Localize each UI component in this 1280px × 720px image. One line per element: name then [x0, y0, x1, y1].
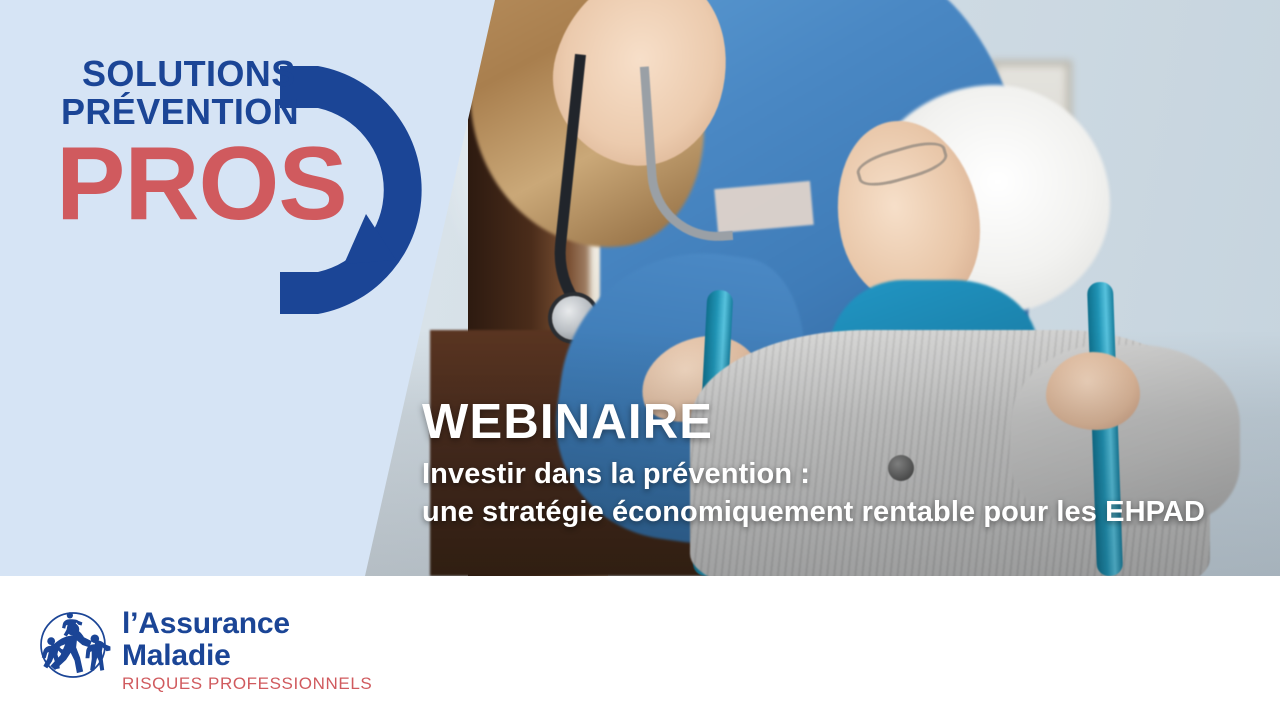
footer-bar: l’Assurance Maladie RISQUES PROFESSIONNE…	[0, 576, 1280, 720]
webinar-title-slide: SOLUTIONS PRÉVENTION PROS WEBINAIRE Inve…	[0, 0, 1280, 720]
webinar-subtitle: Investir dans la prévention : une straté…	[422, 456, 1262, 531]
hero-banner: SOLUTIONS PRÉVENTION PROS WEBINAIRE Inve…	[0, 0, 1280, 576]
organisation-name-line-2: Maladie	[122, 640, 372, 672]
brand-line-pros: PROS	[56, 132, 347, 236]
brand-line-prevention: PRÉVENTION	[61, 94, 299, 130]
organisation-tagline: RISQUES PROFESSIONNELS	[122, 674, 372, 694]
webinar-heading: WEBINAIRE	[422, 398, 1262, 448]
title-block: WEBINAIRE Investir dans la prévention : …	[422, 398, 1262, 531]
webinar-subtitle-line-2: une stratégie économiquement rentable po…	[422, 494, 1262, 532]
brand-logo: SOLUTIONS PRÉVENTION PROS	[56, 46, 406, 306]
assurance-maladie-wordmark: l’Assurance Maladie RISQUES PROFESSIONNE…	[122, 608, 372, 694]
assurance-maladie-figures-icon	[34, 606, 112, 684]
assurance-maladie-logo: l’Assurance Maladie RISQUES PROFESSIONNE…	[34, 606, 372, 694]
webinar-subtitle-line-1: Investir dans la prévention :	[422, 456, 1262, 494]
brand-line-solutions: SOLUTIONS	[82, 56, 296, 92]
organisation-name-line-1: l’Assurance	[122, 608, 372, 640]
